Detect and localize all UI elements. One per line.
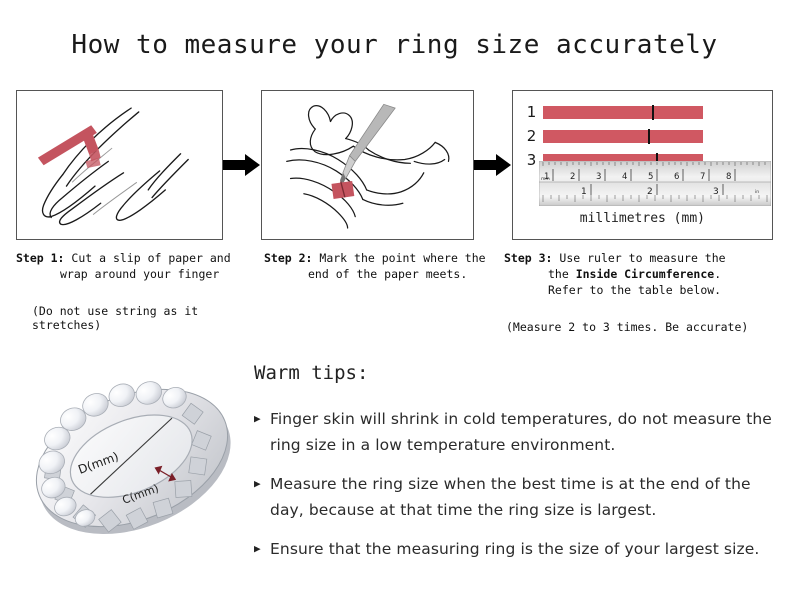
ruler-unit-caption: millimetres (mm) — [513, 211, 772, 226]
triangle-bullet-icon: ▶ — [254, 406, 270, 431]
paper-strip-shape — [38, 125, 101, 168]
step-2-line1: Mark the point where the — [319, 251, 485, 265]
ruler-svg: 12 34 56 78 mm 123 in — [539, 161, 771, 206]
svg-text:2: 2 — [570, 172, 575, 182]
arrow-step2-to-step3 — [474, 90, 512, 240]
step-1-illustration-panel — [16, 90, 223, 240]
ring-diagram: D(mm) C(mm) — [18, 358, 246, 558]
paper-strip-on-finger — [331, 181, 354, 199]
page-title: How to measure your ring size accurately — [0, 0, 789, 60]
ruler-image: 12 34 56 78 mm 123 in — [539, 161, 771, 206]
svg-text:in: in — [755, 189, 759, 195]
eternity-ring-photo: D(mm) C(mm) — [18, 358, 246, 558]
warm-tips-heading: Warm tips: — [254, 362, 774, 384]
hand-marking-paper-sketch — [262, 91, 473, 234]
step-3-line1: Use ruler to measure the — [559, 251, 725, 265]
triangle-bullet-icon: ▶ — [254, 471, 270, 496]
strip-row: 2 — [527, 127, 703, 145]
strip-mark — [648, 129, 650, 144]
triangle-bullet-icon: ▶ — [254, 536, 270, 561]
svg-text:4: 4 — [622, 172, 627, 182]
strip-number: 2 — [527, 127, 543, 145]
svg-text:7: 7 — [700, 172, 705, 182]
list-item: ▶ Measure the ring size when the best ti… — [254, 471, 774, 523]
strip-mark — [652, 105, 654, 120]
list-item: ▶ Ensure that the measuring ring is the … — [254, 536, 774, 562]
steps-panel-row: 1 2 3 — [16, 90, 773, 240]
svg-text:8: 8 — [726, 172, 731, 182]
right-arrow-icon — [223, 153, 261, 177]
step-3-note: (Measure 2 to 3 times. Be accurate) — [504, 320, 773, 334]
step-captions-row: Step 1: Cut a slip of paper and wrap aro… — [16, 250, 773, 334]
step-3-illustration-panel: 1 2 3 — [512, 90, 773, 240]
right-arrow-icon — [474, 153, 512, 177]
strip-bar — [543, 130, 703, 143]
strip-bar — [543, 106, 703, 119]
pen-shape — [340, 104, 395, 186]
step-2-line2: end of the paper meets. — [264, 266, 504, 282]
step-3-line3: Refer to the table below. — [504, 282, 773, 298]
step-1-caption: Step 1: Cut a slip of paper and wrap aro… — [16, 250, 264, 334]
svg-text:mm: mm — [541, 177, 550, 182]
arrow-step1-to-step2 — [223, 90, 261, 240]
svg-text:6: 6 — [674, 172, 679, 182]
step-1-line1: Cut a slip of paper and — [71, 251, 230, 265]
step-3-label: Step 3: — [504, 251, 552, 265]
svg-text:5: 5 — [648, 172, 653, 182]
step-3-line2-post: . — [714, 267, 721, 281]
list-item: ▶ Finger skin will shrink in cold temper… — [254, 406, 774, 458]
svg-text:1: 1 — [581, 187, 587, 197]
step-3-line2: the Inside Circumference. — [504, 266, 773, 282]
tip-text: Ensure that the measuring ring is the si… — [270, 536, 759, 562]
warm-tips-section: Warm tips: ▶ Finger skin will shrink in … — [254, 362, 774, 575]
tip-text: Measure the ring size when the best time… — [270, 471, 774, 523]
step-3-emphasis: Inside Circumference — [576, 267, 714, 281]
step-2-label: Step 2: — [264, 251, 312, 265]
svg-text:3: 3 — [713, 187, 719, 197]
step-1-line2: wrap around your finger — [16, 266, 264, 282]
step-1-note: (Do not use string as it stretches) — [16, 304, 264, 332]
strip-row: 1 — [527, 103, 703, 121]
strip-number: 1 — [527, 103, 543, 121]
step-2-illustration-panel — [261, 90, 474, 240]
tip-text: Finger skin will shrink in cold temperat… — [270, 406, 774, 458]
svg-text:3: 3 — [596, 172, 601, 182]
svg-text:2: 2 — [647, 187, 653, 197]
hand-with-paper-strip-sketch — [17, 91, 221, 234]
step-3-caption: Step 3: Use ruler to measure the the Ins… — [504, 250, 773, 334]
step-1-label: Step 1: — [16, 251, 64, 265]
step-2-caption: Step 2: Mark the point where the end of … — [264, 250, 504, 334]
step-3-line2-pre: the — [548, 267, 576, 281]
